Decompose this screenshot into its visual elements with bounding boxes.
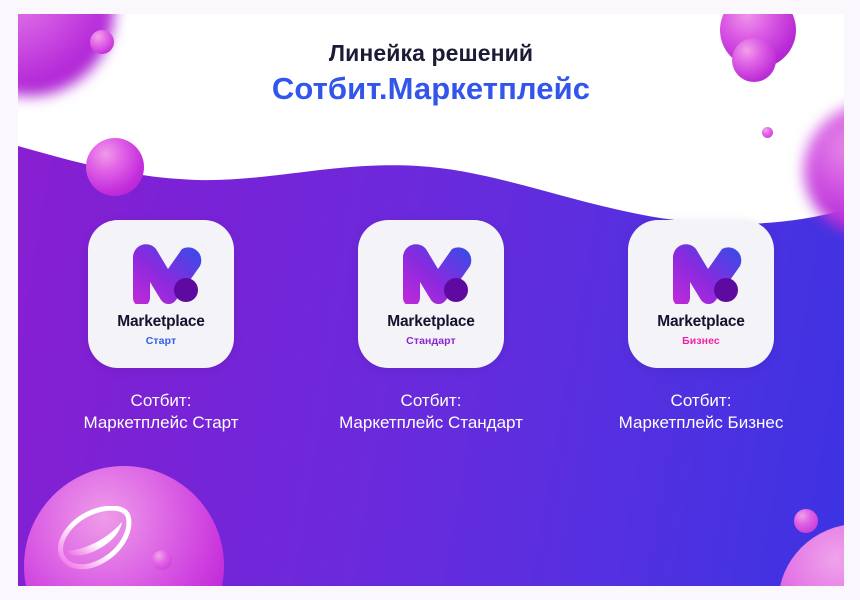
card-brand-word: Marketplace bbox=[657, 313, 744, 331]
header-block: Линейка решений Сотбит.Маркетплейс bbox=[18, 40, 844, 110]
page-title: Сотбит.Маркетплейс bbox=[18, 69, 844, 109]
card-tier-label: Бизнес bbox=[682, 335, 720, 347]
product-card-standard[interactable]: Marketplace Стандарт bbox=[358, 220, 504, 368]
product-caption-standard: Сотбит: Маркетплейс Стандарт bbox=[301, 390, 561, 435]
product-card-business[interactable]: Marketplace Бизнес bbox=[628, 220, 774, 368]
product-start[interactable]: Marketplace Старт Сотбит: Маркетплейс Ст… bbox=[88, 220, 234, 435]
marketplace-m-icon bbox=[390, 242, 472, 304]
marketplace-m-icon bbox=[660, 242, 742, 304]
product-business[interactable]: Marketplace Бизнес Сотбит: Маркетплейс Б… bbox=[628, 220, 774, 435]
eyebrow-text: Линейка решений bbox=[18, 40, 844, 66]
sotbit-leaf-icon bbox=[58, 506, 144, 576]
card-tier-label: Старт bbox=[146, 335, 176, 347]
card-tier-label: Стандарт bbox=[406, 335, 456, 347]
product-cards-row: Marketplace Старт Сотбит: Маркетплейс Ст… bbox=[18, 220, 844, 435]
product-card-start[interactable]: Marketplace Старт bbox=[88, 220, 234, 368]
slide-canvas: Линейка решений Сотбит.Маркетплейс bbox=[18, 14, 844, 586]
product-standard[interactable]: Marketplace Стандарт Сотбит: Маркетплейс… bbox=[358, 220, 504, 435]
product-caption-business: Сотбит: Маркетплейс Бизнес bbox=[571, 390, 831, 435]
card-brand-word: Marketplace bbox=[117, 313, 204, 331]
decorative-sphere-bottom-right bbox=[778, 524, 844, 586]
decorative-sphere-bottom-right-small bbox=[794, 509, 818, 533]
marketplace-m-icon bbox=[120, 242, 202, 304]
product-caption-start: Сотбит: Маркетплейс Старт bbox=[31, 390, 291, 435]
decorative-sphere-bottom-left-small bbox=[152, 550, 172, 570]
card-brand-word: Marketplace bbox=[387, 313, 474, 331]
